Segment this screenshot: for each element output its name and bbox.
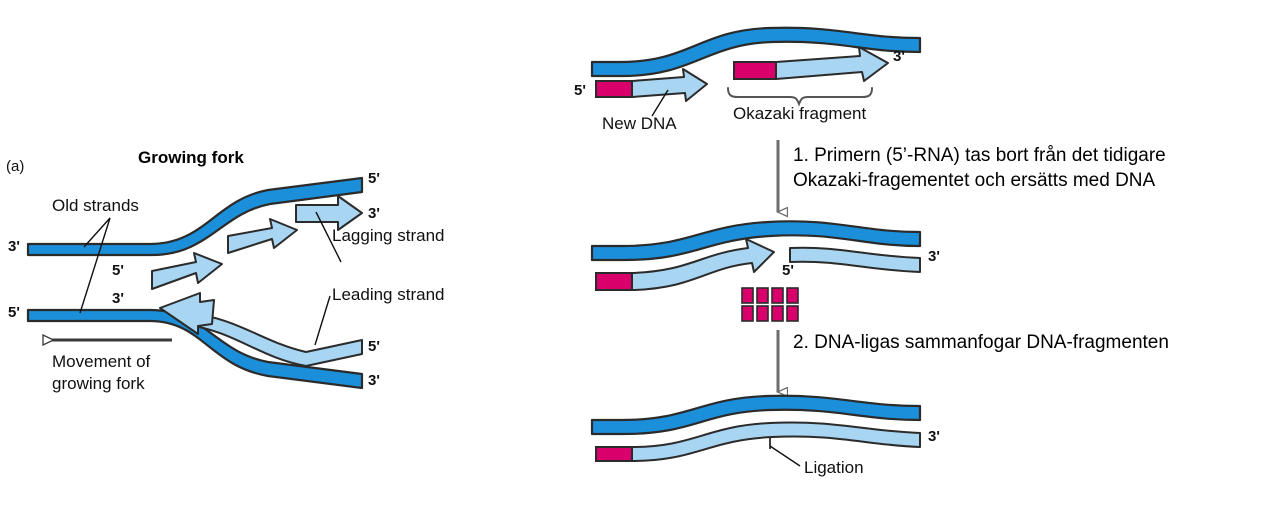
prime-label-parent-bottom-right: 3': [368, 372, 380, 390]
step1-prime-left: 5': [574, 82, 586, 100]
fork-movement-label-line2: growing fork: [52, 374, 145, 394]
ligation-label: Ligation: [804, 458, 864, 478]
step2-primer-left: [596, 273, 632, 290]
fork-movement-label-line1: Movement of: [52, 352, 150, 372]
step3-prime-right: 3': [928, 428, 940, 446]
prime-label-template-top-left: 3': [8, 238, 20, 256]
panel-b-step-2: [592, 221, 920, 392]
leading-strand-label: Leading strand: [332, 285, 444, 305]
step2-previous-fragment: [790, 248, 920, 272]
lagging-okazaki-arrow-1: [152, 253, 222, 289]
step2-prime-right: 3': [928, 248, 940, 266]
panel-b-step-3: [592, 396, 920, 466]
caption-step-1-line-1: 1. Primern (5’-RNA) tas bort från det ti…: [793, 143, 1166, 168]
prime-label-fork-upper: 5': [112, 262, 124, 280]
prime-label-lagging-arrow-right: 3': [368, 205, 380, 223]
ligation-leader: [770, 446, 800, 466]
step1-primer-left: [596, 81, 632, 97]
figure-canvas: (a) Growing fork Old strands Lagging str…: [0, 0, 1270, 522]
old-strands-leader-2: [80, 218, 110, 313]
leading-strand-leader: [315, 296, 330, 345]
new-dna-label: New DNA: [602, 114, 677, 134]
step2-prime-mid: 5': [782, 262, 794, 280]
prime-label-fork-lower: 3': [112, 290, 124, 308]
panel-a-heading: Growing fork: [138, 148, 244, 168]
step1-okazaki-arrow: [776, 47, 888, 81]
okazaki-brace: [728, 88, 872, 104]
prime-label-parent-top-right: 5': [368, 170, 380, 188]
caption-step-2-line-1: 2. DNA-ligas sammanfogar DNA-fragmenten: [793, 330, 1169, 355]
excised-primer-blocks: [742, 288, 798, 321]
lagging-okazaki-arrow-2: [228, 219, 297, 253]
old-strands-label: Old strands: [52, 196, 139, 216]
step1-primer-okazaki: [734, 62, 776, 79]
diagram-svg: [0, 0, 1270, 522]
step3-primer-left: [596, 447, 632, 461]
prime-label-leading-right: 5': [368, 338, 380, 356]
step1-prime-right: 3': [893, 48, 905, 66]
okazaki-fragment-label: Okazaki fragment: [733, 104, 866, 124]
lagging-okazaki-arrow-3: [296, 196, 362, 230]
caption-step-1-line-2: Okazaki-fragementet och ersätts med DNA: [793, 168, 1155, 193]
panel-a-id: (a): [6, 158, 24, 176]
lagging-strand-label: Lagging strand: [332, 226, 444, 246]
prime-label-template-bottom-left: 5': [8, 304, 20, 322]
